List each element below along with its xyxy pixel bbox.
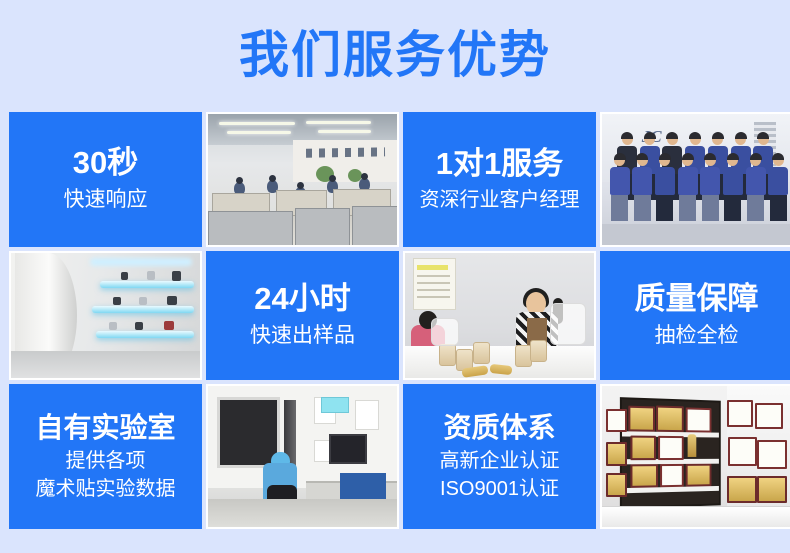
award-plaque [606, 409, 627, 433]
award-plaque [606, 442, 627, 466]
advantage-subline: 快速响应 [64, 186, 148, 214]
award-plaque [728, 437, 757, 466]
advantage-cell-24-hours[interactable]: 24小时 快速出样品 [206, 251, 399, 380]
page-title: 我们服务优势 [239, 30, 551, 80]
award-plaque [606, 473, 627, 497]
wall-note [321, 397, 349, 413]
advantage-heading: 质量保障 [635, 281, 759, 318]
office-desk [208, 211, 293, 245]
certificate-photo-image [602, 386, 790, 527]
tape-roll [530, 340, 547, 362]
team-front-row [602, 166, 790, 221]
advantage-subline: 高新企业认证 [440, 448, 560, 474]
wall-calligraphy [306, 147, 386, 157]
lab-monitor [329, 434, 367, 464]
team-group-photo: JC [600, 112, 790, 247]
studio-floor [602, 224, 790, 245]
showroom-floor [11, 351, 200, 379]
advantage-subline: 提供各项 [66, 448, 146, 474]
award-plaque [628, 406, 654, 432]
laboratory-measuring-photo [206, 384, 399, 529]
award-plaque [727, 476, 757, 503]
ceiling-light [318, 130, 371, 133]
lab-photo-image [208, 386, 397, 527]
display-item [147, 271, 155, 280]
advantage-cell-30-seconds[interactable]: 30秒 快速响应 [9, 112, 202, 247]
advantage-subline: 魔术贴实验数据 [36, 476, 176, 502]
showroom-display-photo [9, 251, 202, 380]
wall-noticeboard [413, 258, 457, 310]
ceiling-light [306, 121, 370, 124]
display-item [172, 271, 181, 281]
office-photo-image [208, 114, 397, 245]
lab-floor [208, 499, 397, 527]
display-item [135, 322, 143, 330]
display-shelf [96, 331, 194, 338]
award-plaque [685, 463, 711, 487]
showroom-photo-image [11, 253, 200, 378]
award-plaque [757, 476, 787, 503]
plastic-bag [550, 303, 586, 345]
packing-photo-image [405, 253, 594, 378]
advantage-subline: 抽检全检 [655, 322, 739, 350]
advantage-cell-quality-assurance[interactable]: 质量保障 抽检全检 [600, 251, 790, 380]
office-desk [352, 206, 397, 245]
advantage-cell-one-to-one-service[interactable]: 1对1服务 资深行业客户经理 [403, 112, 596, 247]
workers-packing-photo [403, 251, 596, 380]
advantage-subline: 快速出样品 [250, 322, 355, 350]
award-plaque [685, 407, 711, 432]
advantage-heading: 30秒 [73, 145, 138, 182]
advantage-cell-own-laboratory[interactable]: 自有实验室 提供各项 魔术贴实验数据 [9, 384, 202, 529]
advantage-heading: 自有实验室 [35, 411, 175, 444]
display-item [121, 272, 128, 280]
award-plaque [630, 436, 656, 460]
open-plan-office-photo [206, 112, 399, 247]
display-shelf [92, 306, 194, 313]
award-plaque [755, 403, 784, 430]
advantages-grid: 30秒 快速响应 [9, 112, 781, 529]
service-advantages-banner: 我们服务优势 30秒 快速响应 [0, 0, 790, 553]
office-desk [295, 208, 350, 245]
display-shelf [100, 281, 195, 288]
display-item [164, 321, 174, 330]
advantage-cell-qualification-system[interactable]: 资质体系 高新企业认证 ISO9001认证 [403, 384, 596, 529]
display-item [109, 322, 117, 330]
award-plaque [727, 400, 754, 427]
display-cabinet [620, 397, 721, 509]
ceiling-light [227, 131, 291, 134]
advantage-heading: 24小时 [254, 281, 350, 318]
ceiling-glow [90, 258, 192, 266]
tape-roll [473, 342, 490, 364]
advantage-heading: 1对1服务 [436, 146, 563, 183]
award-plaque [660, 463, 683, 487]
advantage-subline: ISO9001认证 [440, 476, 559, 502]
cabinet-base [602, 506, 790, 527]
page-title-area: 我们服务优势 [0, 0, 790, 110]
tape-roll [439, 344, 456, 366]
award-plaque [658, 436, 683, 460]
certificate-wall-photo [600, 384, 790, 529]
trophy-icon [687, 434, 696, 457]
ceiling-light [219, 122, 295, 125]
team-photo-image: JC [602, 114, 790, 245]
award-plaque [656, 405, 683, 432]
display-item [139, 297, 147, 305]
wall-note [355, 400, 379, 430]
award-plaque [757, 440, 787, 469]
display-item [167, 296, 177, 305]
award-plaque [630, 463, 658, 488]
advantage-heading: 资质体系 [443, 411, 555, 444]
advantage-subline: 资深行业客户经理 [420, 187, 580, 213]
display-item [113, 297, 121, 305]
plastic-bag [431, 318, 459, 346]
